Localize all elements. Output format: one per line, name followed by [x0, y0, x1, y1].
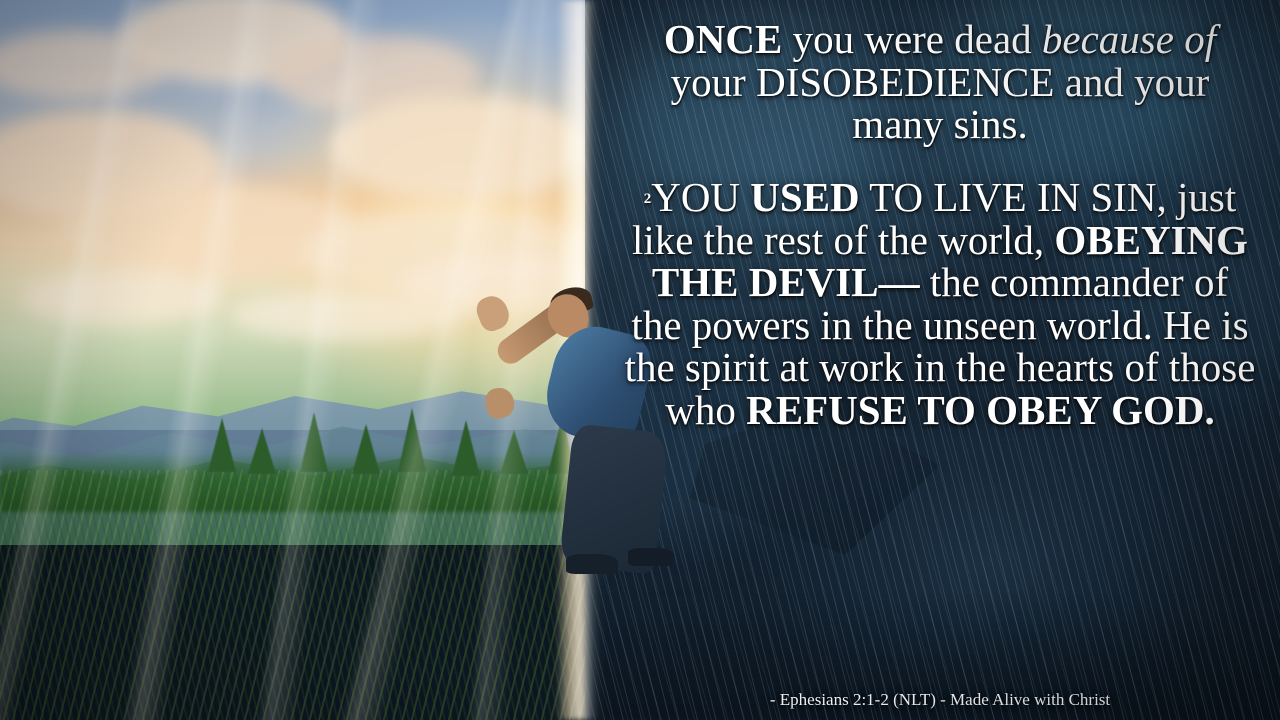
scripture-image-canvas: ONCE you were dead because of your DISOB… [0, 0, 1280, 720]
verse-1-seg-3: your DISOBEDIENCE and your many sins. [671, 59, 1210, 148]
verse-1-seg-1: you were dead [782, 16, 1042, 62]
attribution-text: - Ephesians 2:1-2 (NLT) - Made Alive wit… [600, 690, 1280, 710]
verse-1-paragraph: ONCE you were dead because of your DISOB… [624, 18, 1256, 146]
verse-2-seg-1: USED [750, 174, 859, 220]
scripture-text-block: ONCE you were dead because of your DISOB… [600, 0, 1280, 688]
verse-2-paragraph: 2YOU USED TO LIVE IN SIN, just like the … [624, 176, 1256, 432]
verse-2-seg-0: YOU [651, 174, 750, 220]
verse-1-seg-0: ONCE [664, 16, 782, 62]
verse-2-seg-5: REFUSE TO OBEY GOD. [746, 387, 1215, 433]
verse-1-seg-2: because of [1042, 16, 1216, 62]
